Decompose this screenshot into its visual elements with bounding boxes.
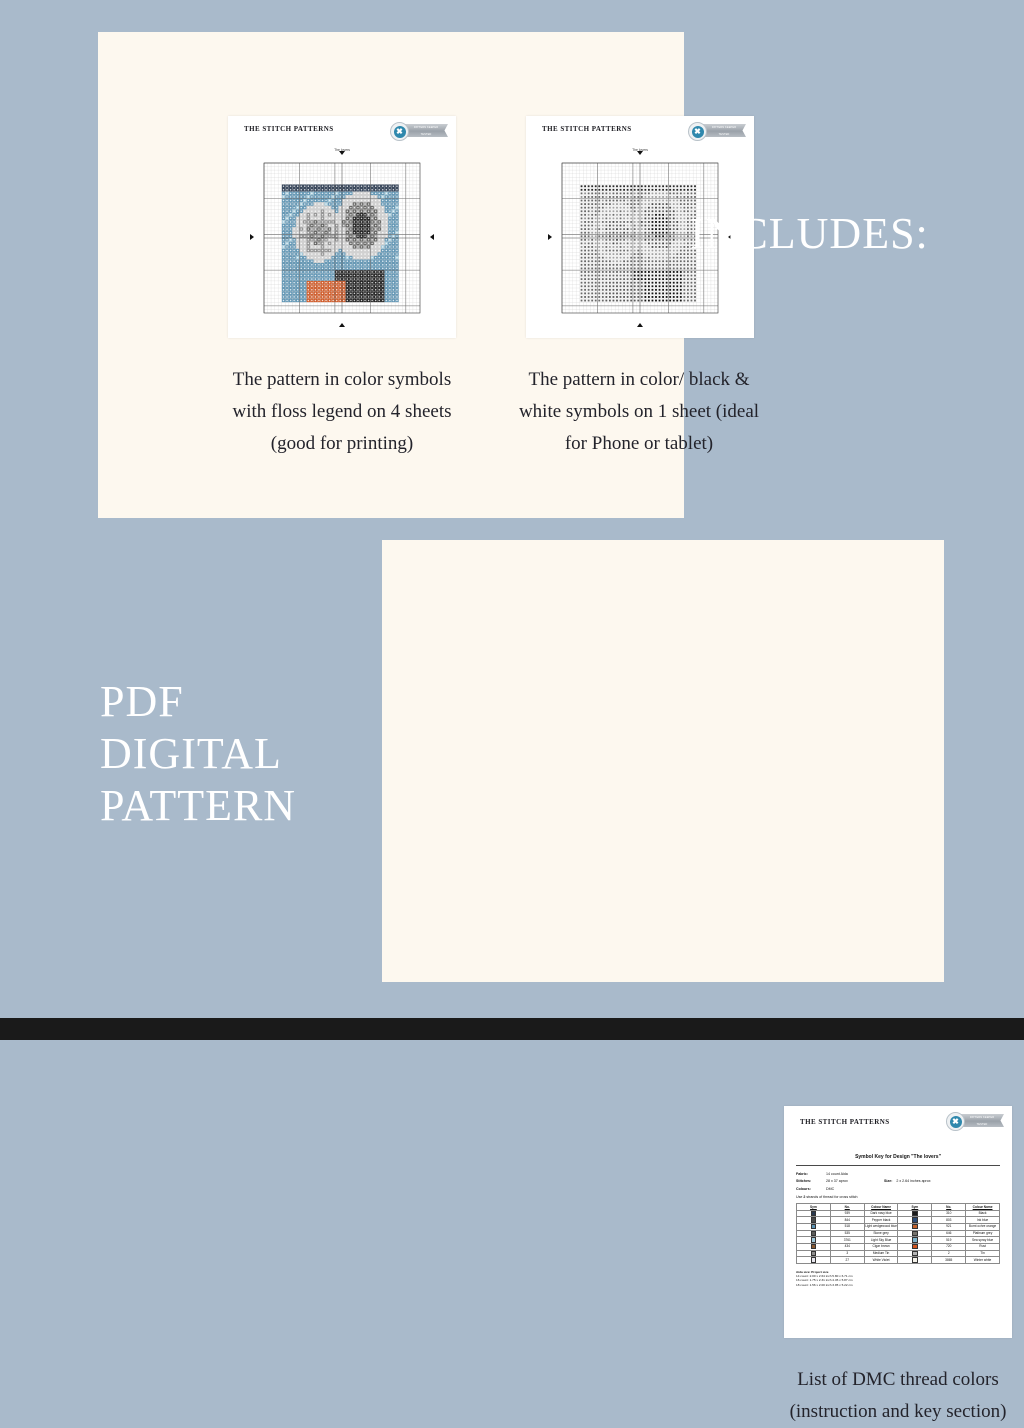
badge-line2: TESTED [960,1121,1004,1128]
pattern-keeper-tested-badge: PATTERN KEEPER TESTED ✖ [390,122,448,139]
thread-number: 646 [932,1230,966,1237]
x-mark-icon: ✖ [692,126,704,138]
colour-name: Platinum grey [966,1230,1000,1237]
marker-left-icon [250,234,254,240]
symbol-swatch [797,1257,831,1264]
caption-bw-chart: The pattern in color/ black & white symb… [514,364,764,460]
marker-bottom-icon [637,323,643,327]
symbol-key-heading: Symbol Key for Design "The lovers" [796,1154,1000,1160]
divider [796,1165,1000,1166]
table-row: 535Stone grey646Platinum grey [797,1230,1000,1237]
colour-name: White Violet [864,1257,898,1264]
thread-number: 310 [932,1210,966,1217]
aida-size-rows: 14 count: 2.00 x 2.64 inch 5.80 x 6.71 c… [796,1274,1000,1287]
symbol-swatch [898,1257,932,1264]
aida-size-row: 18 count: 1.56 x 2.00 inch 3.95 x 5.22 c… [796,1283,1000,1287]
symbol-swatch [797,1230,831,1237]
symbol-key-specs: Fabric:14 count AidaStitches:28 x 37 apr… [796,1172,1000,1191]
sheet-header: THE STITCH PATTERNS PATTERN KEEPER TESTE… [228,116,456,142]
badge-ribbon: PATTERN KEEPER TESTED [702,124,746,137]
strand-note-post: strands of thread for cross stitch [805,1195,857,1199]
badge-ribbon: PATTERN KEEPER TESTED [404,124,448,137]
color-chart-canvas [256,155,428,321]
table-row: 3761Light Sky Blue519Sea spray blue [797,1237,1000,1244]
badge-line1: PATTERN KEEPER [960,1114,1004,1121]
table-row: 434Cigar brown720Rust [797,1243,1000,1250]
symbol-swatch [898,1250,932,1257]
colour-name: Tin [966,1250,1000,1257]
badge-line1: PATTERN KEEPER [702,124,746,131]
includes-panel: THE STITCH PATTERNS PATTERN KEEPER TESTE… [98,32,684,518]
sheet-color-chart[interactable]: THE STITCH PATTERNS PATTERN KEEPER TESTE… [228,116,456,338]
column-header: Colour Name [966,1203,1000,1210]
pdf-digital-pattern-heading: PDFDIGITALPATTERN [100,676,296,832]
badge-line1: PATTERN KEEPER [404,124,448,131]
thread-number: 434 [830,1243,864,1250]
spec-row: Fabric:14 count Aida [796,1172,1000,1176]
thread-number: 535 [830,1230,864,1237]
colour-name: Stone grey [864,1230,898,1237]
spec-label: Colours: [796,1187,826,1191]
color-chart-area: The lovers [248,148,436,326]
caption-color-chart: The pattern in color symbols with floss … [226,364,458,460]
spec-value: 14 count Aida [826,1172,884,1176]
symbol-swatch [898,1243,932,1250]
table-header-row: SymNo.Colour NameSymNo.Colour Name [797,1203,1000,1210]
thread-number: 3865 [932,1257,966,1264]
spec-value-2: 2 x 2.64 inches aprox [896,1179,930,1183]
sheet-header: THE STITCH PATTERNS PATTERN KEEPER TESTE… [526,116,754,142]
table-row: 844Pepper black803Ink blue [797,1217,1000,1224]
strand-note: Use 2 strands of thread for cross stitch [796,1195,1000,1199]
pattern-keeper-tested-badge: PATTERN KEEPER TESTED ✖ [688,122,746,139]
column-header: No. [830,1203,864,1210]
column-header: No. [932,1203,966,1210]
sheet-symbol-key[interactable]: THE STITCH PATTERNS PATTERN KEEPER TESTE… [784,1106,1012,1338]
symbol-swatch [898,1224,932,1231]
badge-disc: ✖ [946,1112,965,1131]
thread-number: 519 [932,1237,966,1244]
marker-left-icon [548,234,552,240]
bottom-bar [0,1018,1024,1040]
documents-panel: THE STITCH PATTERNS PATTERN KEEPER TESTE… [382,540,944,982]
table-row: 939Dark navy blue310Black [797,1210,1000,1217]
thread-number: 2 [932,1250,966,1257]
thread-number: 720 [932,1243,966,1250]
symbol-swatch [898,1210,932,1217]
symbol-swatch [898,1237,932,1244]
marker-right-icon [430,234,434,240]
spec-value: 28 x 37 aprox [826,1179,884,1183]
colour-name: Winter white [966,1257,1000,1264]
badge-line2: TESTED [404,131,448,138]
table-row: 27White Violet3865Winter white [797,1257,1000,1264]
marker-top-icon [339,151,345,155]
thread-number: 3 [830,1250,864,1257]
colour-name: Medium Tin [864,1250,898,1257]
symbol-swatch [898,1230,932,1237]
thread-number: 518 [830,1224,864,1231]
symbol-swatch [797,1224,831,1231]
colour-name: Pepper black [864,1217,898,1224]
table-body: 939Dark navy blue310Black844Pepper black… [797,1210,1000,1263]
spec-label-2: Size: [884,1179,892,1183]
strand-note-pre: Use [796,1195,803,1199]
badge-line2: TESTED [702,131,746,138]
column-header: Sym [797,1203,831,1210]
symbol-swatch [797,1250,831,1257]
pdf-title-line-2: PATTERN [100,780,296,832]
spec-value: DMC [826,1187,884,1191]
marker-top-icon [637,151,643,155]
badge-ribbon: PATTERN KEEPER TESTED [960,1114,1004,1127]
spec-row: Stitches:28 x 37 aproxSize:2 x 2.64 inch… [796,1179,1000,1183]
thread-number: 939 [830,1210,864,1217]
colour-name: Dark navy blue [864,1210,898,1217]
brand-title: THE STITCH PATTERNS [800,1118,890,1126]
poster-canvas: THE STITCH PATTERNS PATTERN KEEPER TESTE… [0,0,1024,1040]
thread-number: 27 [830,1257,864,1264]
includes-heading: INCLUDES: [690,212,929,256]
colour-name: Cigar brown [864,1243,898,1250]
badge-disc: ✖ [390,122,409,141]
symbol-key-table: SymNo.Colour NameSymNo.Colour Name 939Da… [796,1203,1000,1264]
thread-number: 921 [932,1224,966,1231]
sheet-header: THE STITCH PATTERNS PATTERN KEEPER TESTE… [784,1106,1012,1132]
colour-name: Ink blue [966,1217,1000,1224]
pattern-keeper-tested-badge: PATTERN KEEPER TESTED ✖ [946,1112,1004,1129]
symbol-swatch [797,1243,831,1250]
table-row: 3Medium Tin2Tin [797,1250,1000,1257]
column-header: Sym [898,1203,932,1210]
x-mark-icon: ✖ [394,126,406,138]
column-header: Colour Name [864,1203,898,1210]
badge-disc: ✖ [688,122,707,141]
thread-number: 844 [830,1217,864,1224]
colour-name: Rust [966,1243,1000,1250]
pdf-title-line-1: DIGITAL [100,728,296,780]
thread-number: 3761 [830,1237,864,1244]
aida-size-block: Aida size: Project size 14 count: 2.00 x… [796,1270,1000,1287]
colour-name: Light wedgewood blue [864,1224,898,1231]
colour-name: Black [966,1210,1000,1217]
symbol-swatch [797,1237,831,1244]
brand-title: THE STITCH PATTERNS [244,125,334,133]
symbol-key-body: Symbol Key for Design "The lovers" Fabri… [796,1140,1000,1287]
pdf-title-line-0: PDF [100,676,296,728]
spec-label: Stitches: [796,1179,826,1183]
x-mark-icon: ✖ [950,1116,962,1128]
symbol-swatch [797,1217,831,1224]
symbol-swatch [898,1217,932,1224]
colour-name: Light Sky Blue [864,1237,898,1244]
colour-name: Sea spray blue [966,1237,1000,1244]
caption-symbol-key: List of DMC thread colors (instruction a… [780,1364,1016,1428]
spec-label: Fabric: [796,1172,826,1176]
brand-title: THE STITCH PATTERNS [542,125,632,133]
marker-bottom-icon [339,323,345,327]
thread-number: 803 [932,1217,966,1224]
table-row: 518Light wedgewood blue921Burnt ochre or… [797,1224,1000,1231]
colour-name: Burnt ochre orange [966,1224,1000,1231]
spec-row: Colours:DMC [796,1187,1000,1191]
symbol-swatch [797,1210,831,1217]
